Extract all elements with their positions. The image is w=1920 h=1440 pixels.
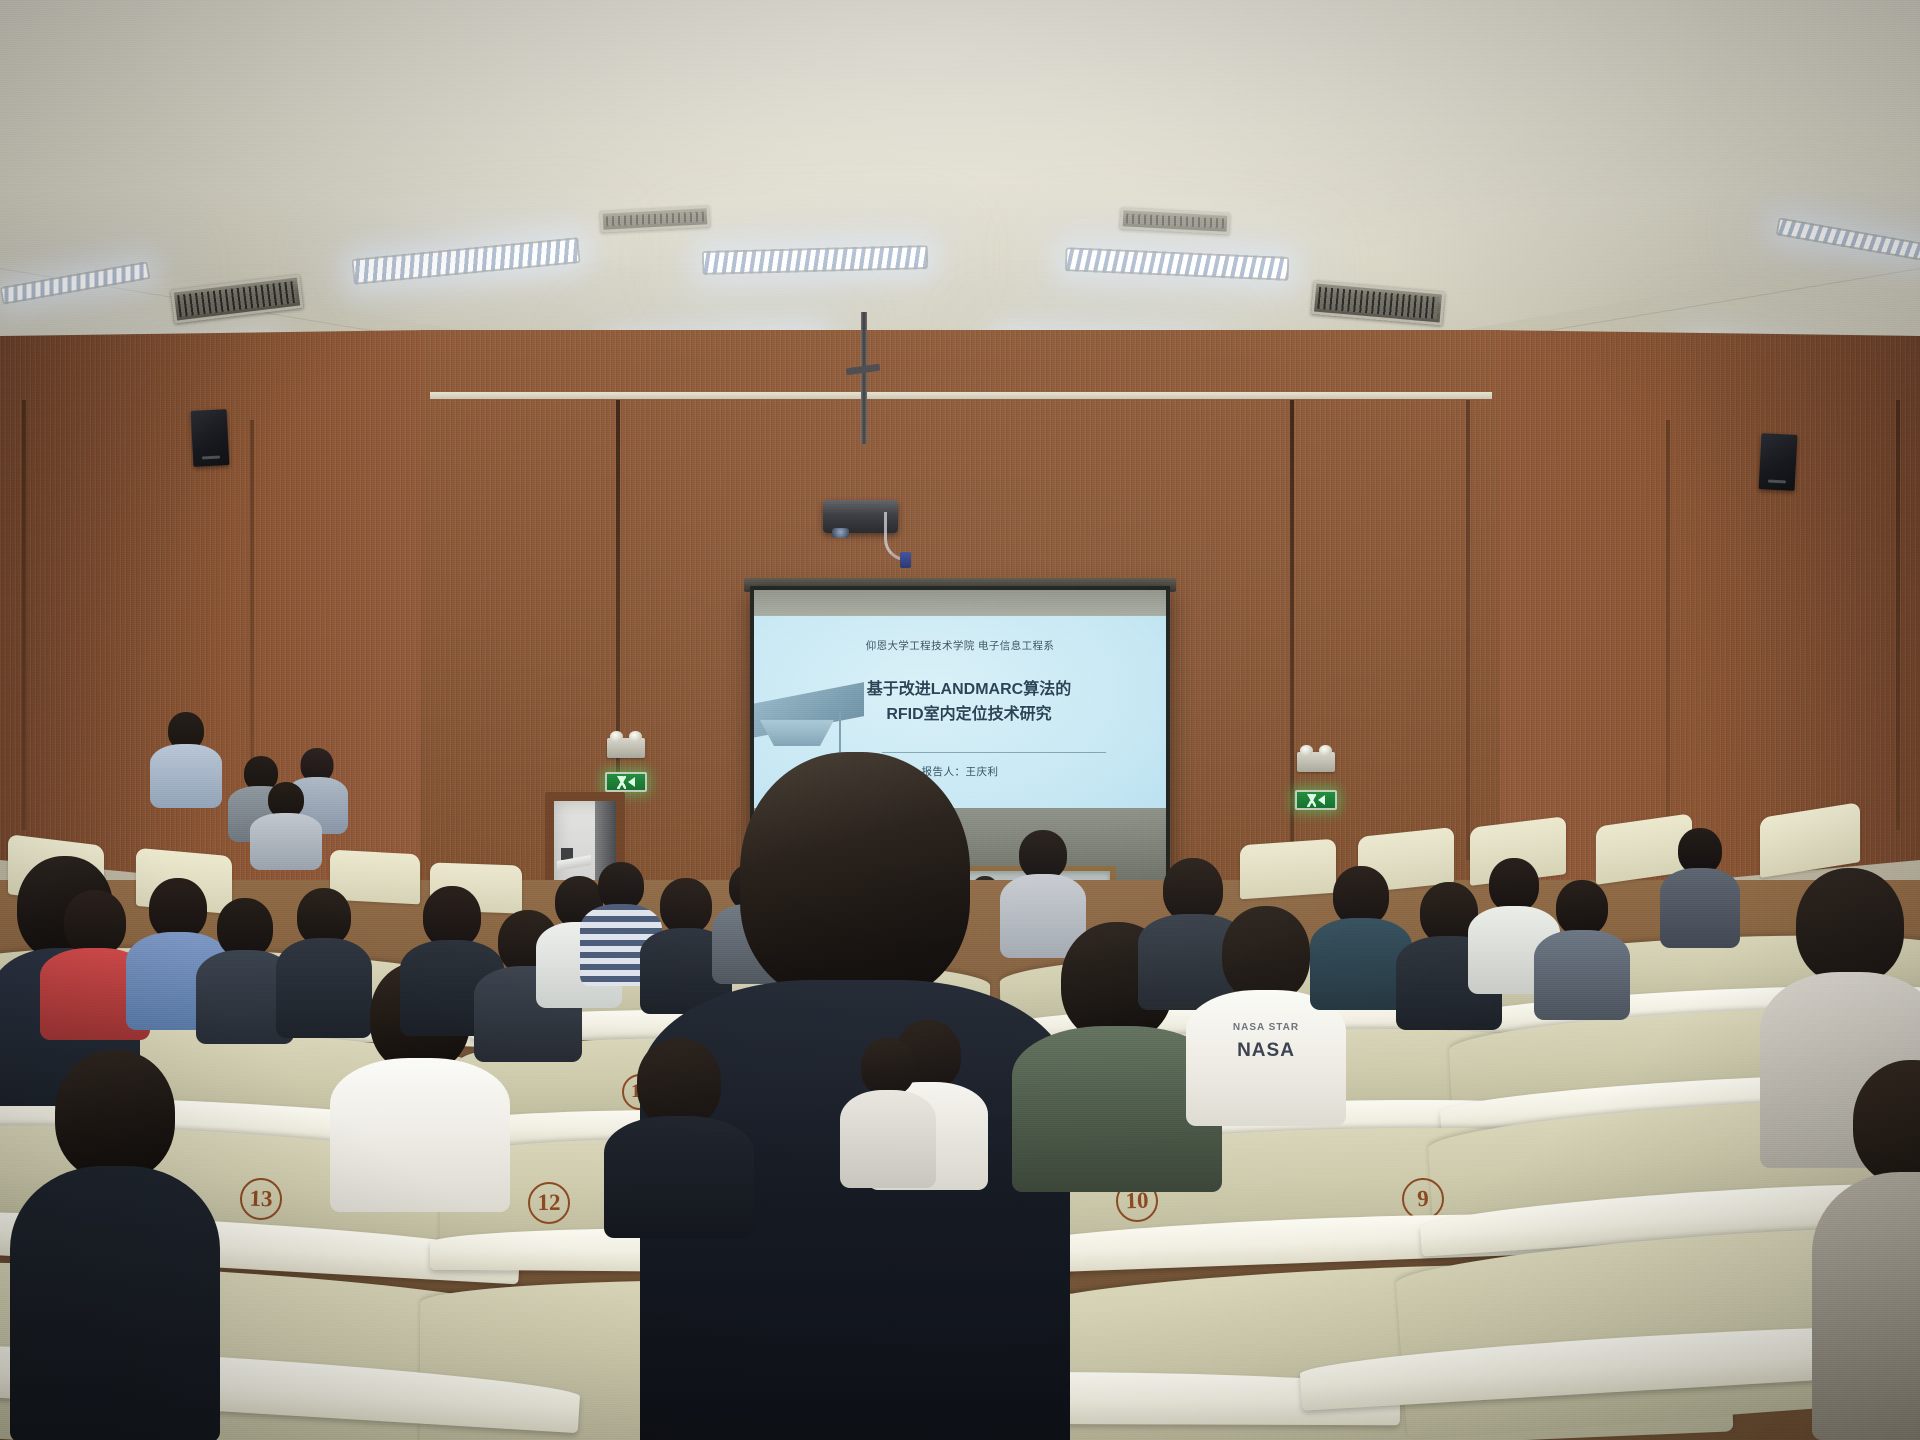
person-torso	[330, 1058, 510, 1212]
person-head	[1556, 880, 1608, 936]
running-man-icon	[617, 776, 626, 789]
slide-title-line-2: RFID室内定位技术研究	[804, 703, 1134, 728]
lecture-hall-photo: 仰恩大学工程技术学院 电子信息工程系 基于改进LANDMARC算法的 RFID室…	[0, 0, 1920, 1440]
running-man-icon	[1307, 794, 1316, 807]
wood-panel-texture	[0, 300, 430, 900]
wall-top-trim	[430, 392, 1492, 399]
person-torso	[1812, 1172, 1920, 1440]
person-torso	[250, 813, 322, 870]
person-torso	[1660, 868, 1740, 948]
wall-panel-seam	[1666, 420, 1670, 820]
person-torso	[1534, 930, 1630, 1020]
person-torso	[150, 744, 222, 808]
person-head	[740, 752, 970, 1002]
person-torso	[604, 1116, 754, 1238]
person-head	[55, 1050, 175, 1180]
person-head	[217, 898, 273, 958]
screen-top-margin	[754, 590, 1166, 616]
wall-panel-seam	[1290, 400, 1294, 870]
exit-arrow-icon	[1318, 795, 1325, 805]
projector-plug	[900, 552, 911, 568]
side-wall-left	[0, 300, 430, 900]
person-head	[1796, 868, 1904, 984]
speaker-icon	[1759, 433, 1798, 491]
wall-panel-seam	[22, 400, 26, 830]
audience-member	[10, 1050, 220, 1440]
nasa-shirt-label: NASA	[1237, 1040, 1295, 1062]
person-torso	[840, 1090, 936, 1188]
slide-title-line-1: 基于改进LANDMARC算法的	[804, 678, 1134, 703]
exit-sign-right	[1295, 790, 1337, 810]
wall-panel-seam	[1896, 400, 1900, 830]
audience-member	[1534, 880, 1630, 1020]
person-head	[637, 1038, 721, 1128]
audience-member	[840, 1038, 936, 1188]
person-head	[64, 890, 126, 956]
nasa-shirt-sublabel: NASA STAR	[1233, 1022, 1299, 1033]
projector-mount-pole	[861, 312, 867, 444]
exit-arrow-icon	[628, 777, 635, 787]
person-head	[1853, 1060, 1920, 1186]
person-head	[861, 1038, 915, 1096]
wall-panel-seam	[1466, 400, 1470, 860]
person-head	[423, 886, 481, 948]
projector-lens	[832, 528, 849, 538]
audience-member	[250, 782, 322, 870]
audience-member	[1812, 1060, 1920, 1440]
person-torso	[10, 1166, 220, 1440]
slide-title: 基于改进LANDMARC算法的 RFID室内定位技术研究	[804, 678, 1134, 728]
seat-number-12: 12	[528, 1182, 570, 1224]
person-head	[1333, 866, 1389, 926]
audience-member	[1660, 828, 1740, 948]
person-head	[1019, 830, 1067, 880]
audience-member	[150, 712, 222, 808]
audience-member	[604, 1038, 754, 1238]
person-head	[598, 862, 644, 910]
emergency-light-icon	[1297, 752, 1335, 772]
person-head	[1222, 906, 1310, 1002]
speaker-icon	[191, 409, 230, 467]
person-head	[1489, 858, 1539, 912]
slide-department-line: 仰恩大学工程技术学院 电子信息工程系	[754, 638, 1166, 653]
